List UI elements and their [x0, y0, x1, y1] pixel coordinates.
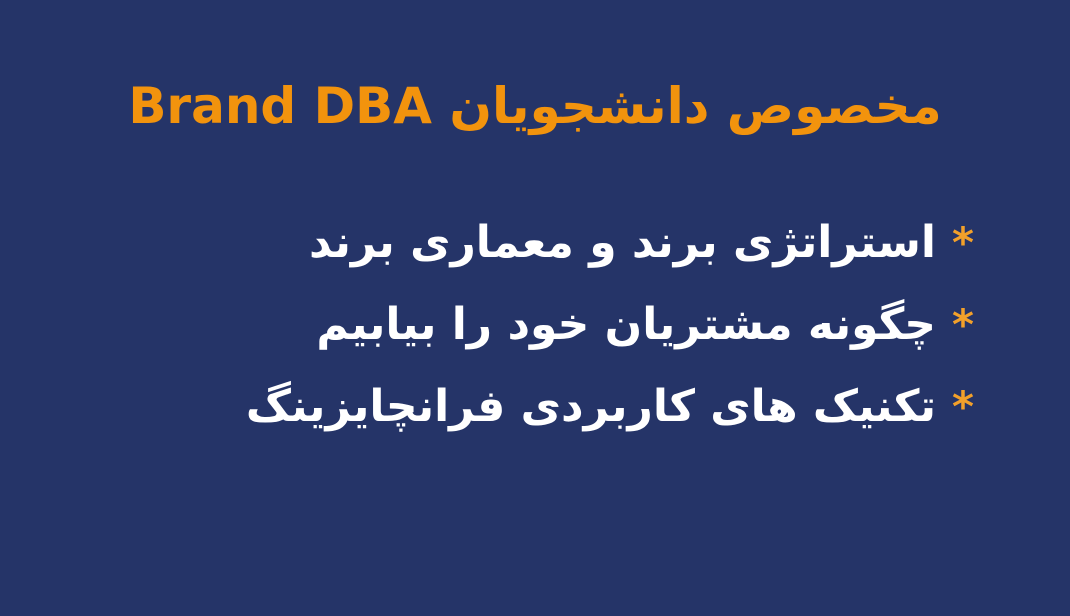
- slide-canvas: مخصوص دانشجویان Brand DBA * استراتژی برن…: [0, 0, 1070, 616]
- bullet-text: چگونه مشتریان خود را بیابیم: [86, 294, 942, 356]
- list-item: * تکنیک های کاربردی فرانچایزینگ: [86, 376, 984, 438]
- bullet-text: تکنیک های کاربردی فرانچایزینگ: [86, 376, 942, 438]
- asterisk-bullet-icon: *: [942, 376, 984, 438]
- bullet-list: * استراتژی برند و معماری برند * چگونه مش…: [86, 212, 984, 458]
- list-item: * چگونه مشتریان خود را بیابیم: [86, 294, 984, 356]
- slide-title: مخصوص دانشجویان Brand DBA: [0, 78, 1070, 134]
- list-item: * استراتژی برند و معماری برند: [86, 212, 984, 274]
- asterisk-bullet-icon: *: [942, 212, 984, 274]
- bullet-text: استراتژی برند و معماری برند: [86, 212, 942, 274]
- asterisk-bullet-icon: *: [942, 294, 984, 356]
